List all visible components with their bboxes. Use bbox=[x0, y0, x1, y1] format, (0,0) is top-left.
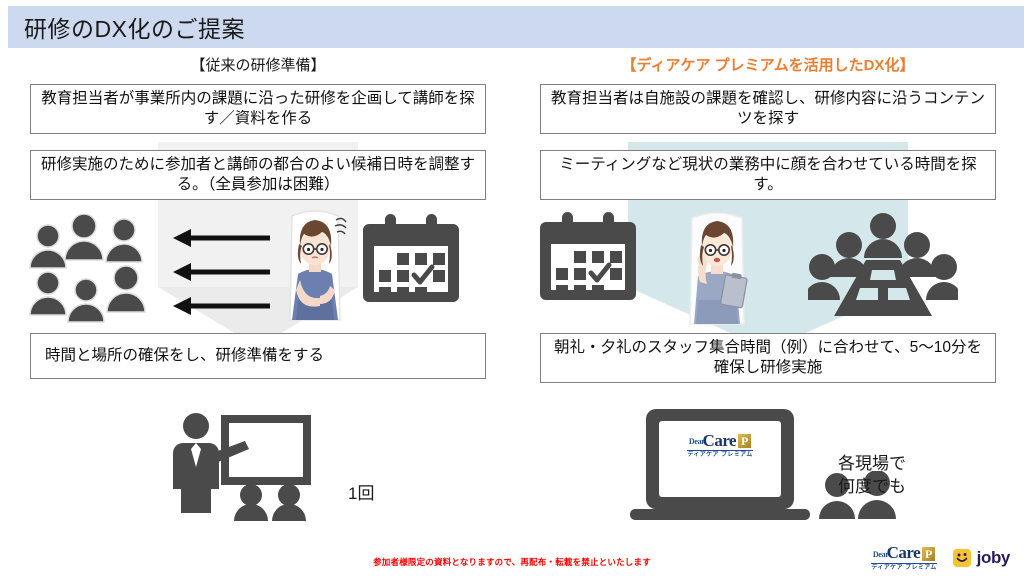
slide-title-band: 研修のDX化のご提案 bbox=[8, 6, 1024, 48]
footer-dear-care-logo: Dear Care P ディアケア プレミアム bbox=[871, 545, 936, 570]
joby-smiley-icon bbox=[953, 549, 971, 567]
meeting-table-icon bbox=[808, 212, 958, 322]
right-result-label: 各現場で 何度でも bbox=[838, 453, 906, 499]
left-column-heading: 【従来の研修準備】 bbox=[8, 56, 508, 78]
calendar-check-icon bbox=[540, 210, 636, 306]
left-step-3-box: 時間と場所の確保をし、研修準備をする bbox=[30, 333, 486, 379]
right-step-1-text: 教育担当者は自施設の課題を確認し、研修内容に沿うコンテンツを探す bbox=[541, 89, 995, 129]
right-column-heading: 【ディアケア プレミアムを活用したDX化】 bbox=[518, 56, 1018, 78]
left-result-row: 1回 bbox=[8, 391, 508, 541]
page-title: 研修のDX化のご提案 bbox=[8, 10, 245, 44]
left-step-3-text: 時間と場所の確保をし、研修準備をする bbox=[31, 346, 485, 366]
right-step-2-text: ミーティングなど現状の業務中に顔を合わせている時間を探す。 bbox=[541, 155, 995, 195]
right-step-3-box: 朝礼・夕礼のスタッフ集合時間（例）に合わせて、5～10分を確保し研修実施 bbox=[540, 333, 996, 383]
footer-restriction-note: 参加者様限定の資料となりますので、再配布・転載を禁止といたします bbox=[0, 556, 1024, 568]
joby-logo: joby bbox=[953, 548, 1010, 568]
right-result-row: Dear Care P ディアケア プレミアム 各現場で bbox=[518, 391, 1018, 541]
worried-nurse-icon bbox=[280, 208, 350, 328]
right-result-label-line1: 各現場で bbox=[838, 453, 906, 476]
dear-care-premium-logo: Dear Care P ディアケア プレミアム bbox=[672, 433, 768, 458]
left-step-2-text: 研修実施のために参加者と講師の都合のよい候補日時を調整する。（全員参加は困難） bbox=[31, 155, 485, 195]
joby-wordmark: joby bbox=[977, 548, 1010, 568]
logo-subtitle: ディアケア プレミアム bbox=[687, 450, 752, 458]
footer-logo-group: Dear Care P ディアケア プレミアム joby bbox=[871, 544, 1010, 572]
right-result-label-line2: 何度でも bbox=[838, 476, 906, 499]
left-step-2-box: 研修実施のために参加者と講師の都合のよい候補日時を調整する。（全員参加は困難） bbox=[30, 150, 486, 200]
footer-logo-premium-mark: P bbox=[922, 547, 935, 561]
calendar-check-icon bbox=[363, 212, 459, 308]
laptop-icon: Dear Care P ディアケア プレミアム bbox=[628, 407, 818, 530]
left-step-1-box: 教育担当者が事業所内の課題に沿った研修を企画して講師を探す／資料を作る bbox=[30, 84, 486, 134]
left-result-label: 1回 bbox=[348, 483, 374, 506]
presenter-whiteboard-icon bbox=[163, 411, 323, 526]
right-step-1-box: 教育担当者は自施設の課題を確認し、研修内容に沿うコンテンツを探す bbox=[540, 84, 996, 134]
left-step-1-text: 教育担当者が事業所内の課題に沿った研修を企画して講師を探す／資料を作る bbox=[31, 89, 485, 129]
right-illustration-strip bbox=[518, 206, 1018, 331]
column-dx: 【ディアケア プレミアムを活用したDX化】 教育担当者は自施設の課題を確認し、研… bbox=[518, 56, 1018, 526]
logo-care-text: Care bbox=[703, 433, 737, 449]
right-step-2-box: ミーティングなど現状の業務中に顔を合わせている時間を探す。 bbox=[540, 150, 996, 200]
footer-logo-care-text: Care bbox=[887, 545, 921, 561]
logo-premium-mark: P bbox=[738, 434, 751, 448]
left-arrow-icon bbox=[173, 226, 273, 316]
footer-logo-subtitle: ディアケア プレミアム bbox=[871, 563, 936, 571]
left-illustration-strip bbox=[8, 206, 508, 331]
right-step-3-text: 朝礼・夕礼のスタッフ集合時間（例）に合わせて、5～10分を確保し研修実施 bbox=[541, 338, 995, 378]
column-traditional: 【従来の研修準備】 教育担当者が事業所内の課題に沿った研修を企画して講師を探す／… bbox=[8, 56, 508, 526]
pointing-nurse-icon bbox=[678, 210, 756, 330]
